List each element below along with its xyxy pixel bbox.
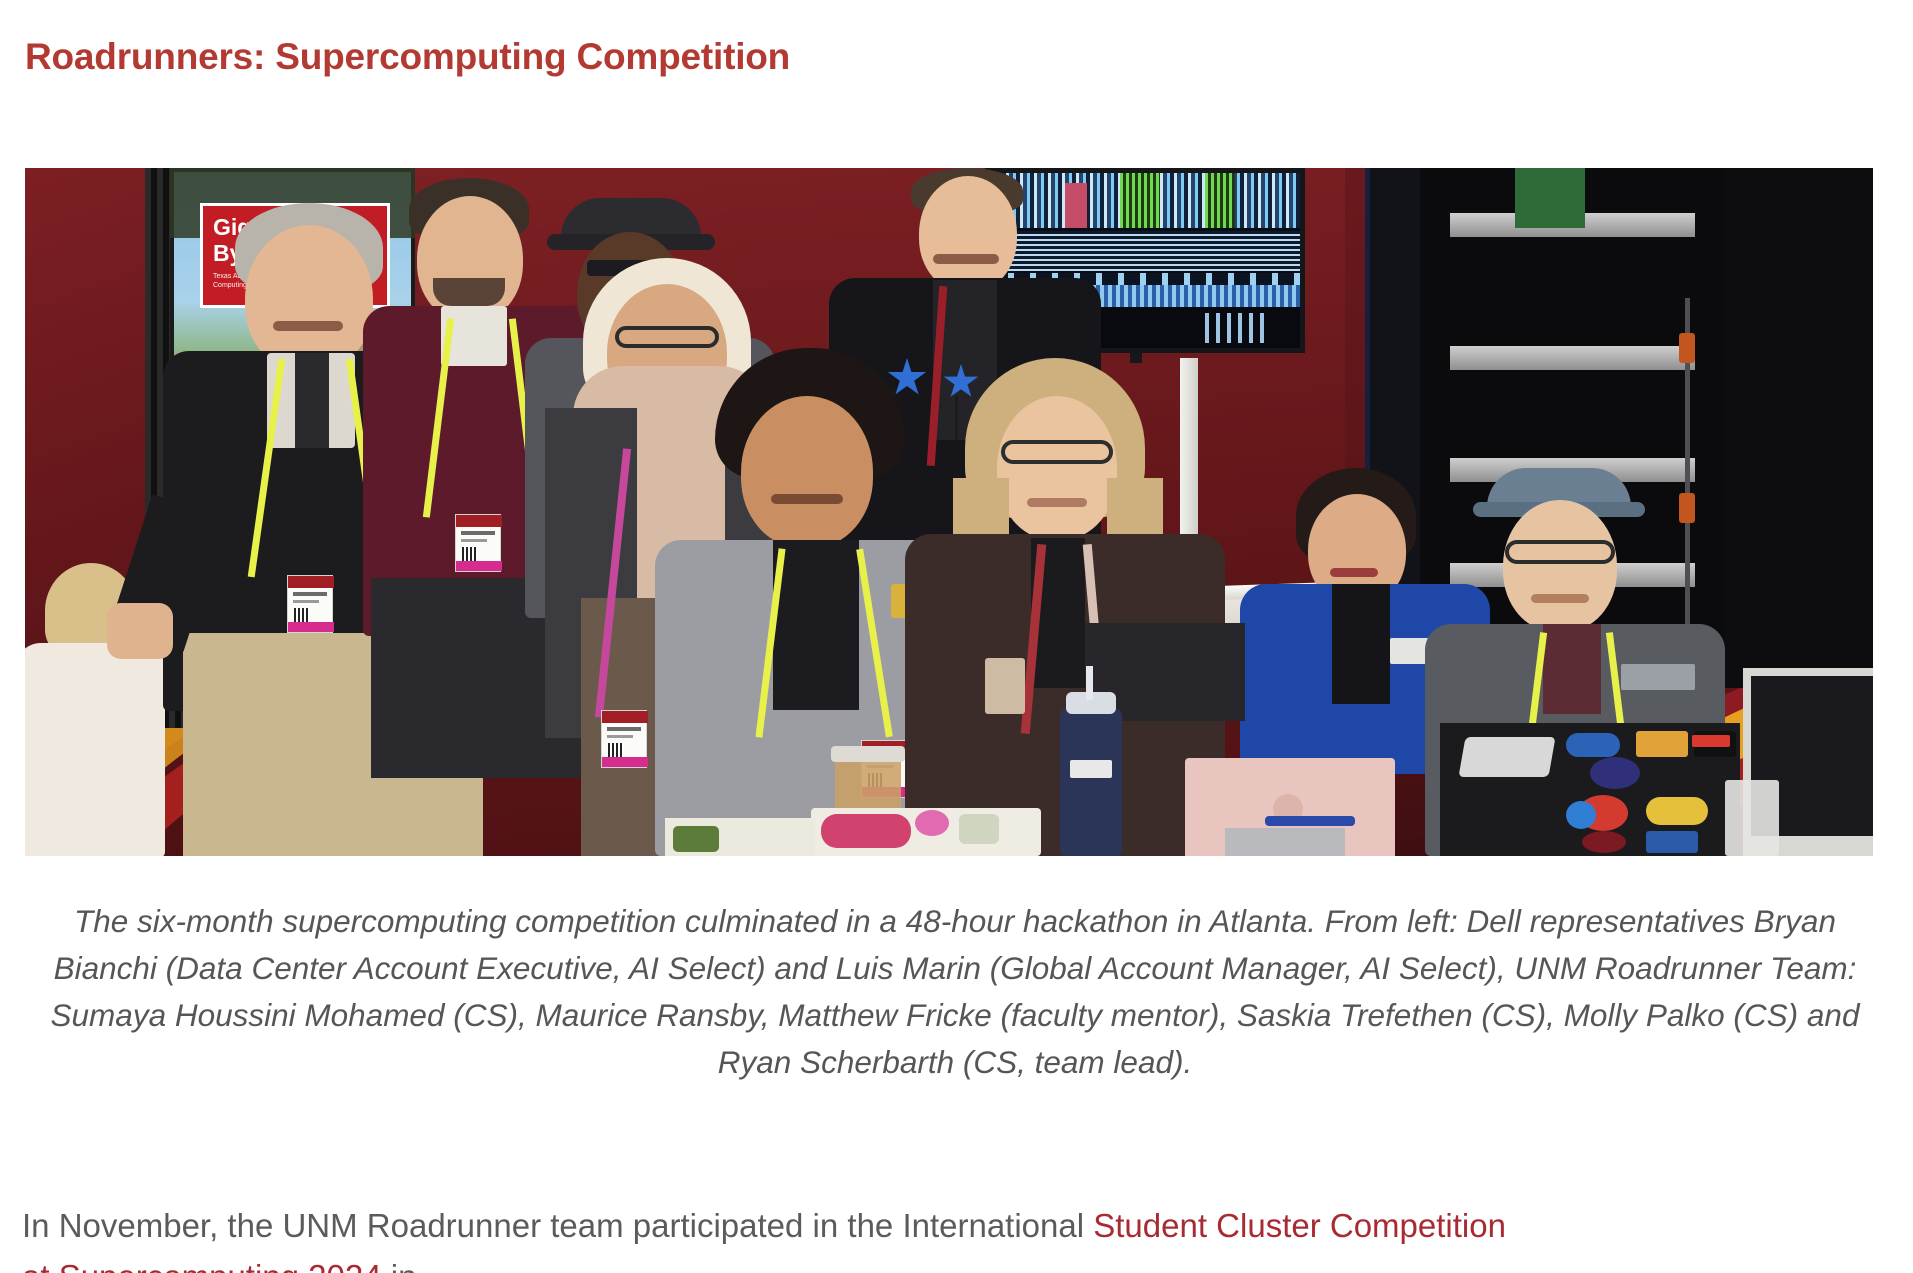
plastic-cup-right xyxy=(1725,780,1779,856)
rack-unit-2 xyxy=(1450,346,1695,370)
rack-circuit-board xyxy=(1515,168,1585,228)
article-photo: Gig'Em Bytes Texas A&M University High P… xyxy=(25,168,1873,856)
cables-on-table xyxy=(1225,828,1345,856)
table-items-left xyxy=(665,818,815,856)
article-body-paragraph: In November, the UNM Roadrunner team par… xyxy=(22,1200,1522,1273)
body-text-after-link: in xyxy=(382,1258,417,1273)
laptop-with-stickers xyxy=(1440,723,1740,856)
water-bottle xyxy=(1060,708,1122,856)
monitor-green-band-a xyxy=(1120,173,1160,228)
rack-cable-tag-1 xyxy=(1679,333,1695,363)
rack-dark-column xyxy=(1725,168,1873,688)
badge-sumaya xyxy=(601,710,647,768)
snack-tray xyxy=(811,808,1041,856)
photo-caption: The six-month supercomputing competition… xyxy=(25,898,1885,1086)
monitor-bar-group-right xyxy=(1205,313,1267,343)
badge-luis xyxy=(455,514,501,572)
photo-scene: Gig'Em Bytes Texas A&M University High P… xyxy=(25,168,1873,856)
coffee-cup-back xyxy=(985,658,1025,714)
body-text-before-link: In November, the UNM Roadrunner team par… xyxy=(22,1207,1093,1244)
article-page: Roadrunners: Supercomputing Competition xyxy=(0,0,1913,1273)
page-title: Roadrunners: Supercomputing Competition xyxy=(25,36,790,78)
monitor-green-band-b xyxy=(1205,173,1235,228)
badge-bryan xyxy=(287,575,333,633)
